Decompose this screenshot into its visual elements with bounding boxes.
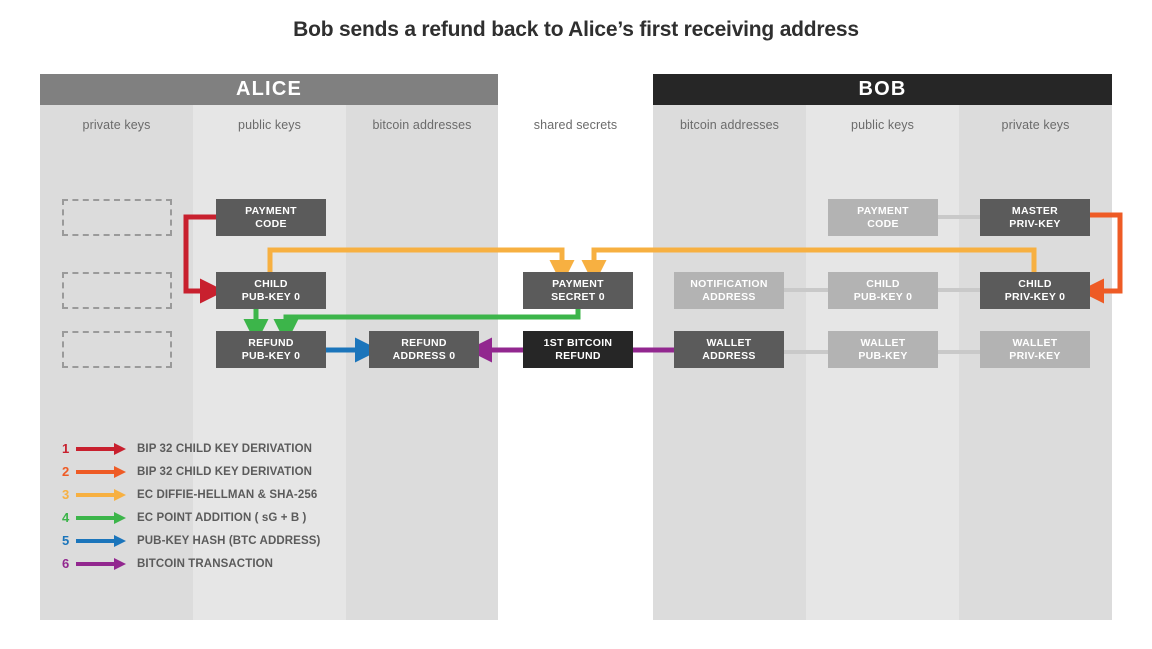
column-caption-alice-private-keys: private keys xyxy=(40,118,193,138)
node-line-2: ADDRESS xyxy=(702,350,755,363)
legend-number-2: 2 xyxy=(62,464,76,479)
node-line-1: WALLET xyxy=(1013,337,1058,350)
legend-row-4: 4 EC POINT ADDITION ( sG + B ) xyxy=(62,506,320,529)
party-label-alice: ALICE xyxy=(236,78,302,101)
node-1st-bitcoin-refund[interactable]: 1ST BITCOIN REFUND xyxy=(523,331,633,368)
legend-label-5: PUB-KEY HASH (BTC ADDRESS) xyxy=(137,535,320,547)
legend-number-3: 3 xyxy=(62,487,76,502)
legend-number-4: 4 xyxy=(62,510,76,525)
diagram-canvas: Bob sends a refund back to Alice’s first… xyxy=(0,0,1152,649)
legend-label-2: BIP 32 CHILD KEY DERIVATION xyxy=(137,466,312,478)
legend-arrow-icon-1 xyxy=(76,442,128,456)
column-caption-bob-public-keys: public keys xyxy=(806,118,959,138)
node-line-1: CHILD xyxy=(1018,278,1052,291)
node-line-1: 1ST BITCOIN xyxy=(544,337,613,350)
node-bob-payment-code[interactable]: PAYMENT CODE xyxy=(828,199,938,236)
node-payment-secret-0[interactable]: PAYMENT SECRET 0 xyxy=(523,272,633,309)
legend-label-3: EC DIFFIE-HELLMAN & SHA-256 xyxy=(137,489,317,501)
legend-arrow-icon-3 xyxy=(76,488,128,502)
legend-arrow-icon-5 xyxy=(76,534,128,548)
node-line-2: PRIV-KEY xyxy=(1009,350,1060,363)
link-bob-child-pubkey-child-privkey xyxy=(936,288,982,292)
legend-row-1: 1 BIP 32 CHILD KEY DERIVATION xyxy=(62,437,320,460)
node-alice-ghost-2 xyxy=(62,272,172,309)
node-alice-ghost-1 xyxy=(62,199,172,236)
legend-arrow-icon-2 xyxy=(76,465,128,479)
node-bob-wallet-address[interactable]: WALLET ADDRESS xyxy=(674,331,784,368)
legend: 1 BIP 32 CHILD KEY DERIVATION 2 BIP 32 C… xyxy=(62,437,320,575)
node-line-1: PAYMENT xyxy=(552,278,604,291)
link-bob-wallet-pubkey-wallet-privkey xyxy=(936,350,982,354)
node-bob-wallet-priv-key[interactable]: WALLET PRIV-KEY xyxy=(980,331,1090,368)
legend-row-6: 6 BITCOIN TRANSACTION xyxy=(62,552,320,575)
column-caption-alice-bitcoin-addresses: bitcoin addresses xyxy=(346,118,498,138)
node-line-2: PUB-KEY 0 xyxy=(242,291,301,304)
node-alice-refund-address-0[interactable]: REFUND ADDRESS 0 xyxy=(369,331,479,368)
legend-label-4: EC POINT ADDITION ( sG + B ) xyxy=(137,512,306,524)
node-bob-child-pub-key-0[interactable]: CHILD PUB-KEY 0 xyxy=(828,272,938,309)
node-line-1: CHILD xyxy=(866,278,900,291)
node-bob-wallet-pub-key[interactable]: WALLET PUB-KEY xyxy=(828,331,938,368)
legend-row-3: 3 EC DIFFIE-HELLMAN & SHA-256 xyxy=(62,483,320,506)
legend-label-6: BITCOIN TRANSACTION xyxy=(137,558,273,570)
node-bob-notification-address[interactable]: NOTIFICATION ADDRESS xyxy=(674,272,784,309)
node-line-2: ADDRESS xyxy=(702,291,755,304)
node-line-1: PAYMENT xyxy=(245,205,297,218)
link-bob-notification-child-pubkey xyxy=(782,288,829,292)
node-line-2: PUB-KEY 0 xyxy=(854,291,913,304)
node-line-2: CODE xyxy=(255,218,287,231)
node-alice-ghost-3 xyxy=(62,331,172,368)
column-caption-bob-bitcoin-addresses: bitcoin addresses xyxy=(653,118,806,138)
node-line-1: REFUND xyxy=(401,337,447,350)
node-line-2: PRIV-KEY xyxy=(1009,218,1060,231)
node-alice-payment-code[interactable]: PAYMENT CODE xyxy=(216,199,326,236)
node-bob-child-priv-key-0[interactable]: CHILD PRIV-KEY 0 xyxy=(980,272,1090,309)
legend-number-1: 1 xyxy=(62,441,76,456)
node-line-1: WALLET xyxy=(707,337,752,350)
party-label-bob: BOB xyxy=(858,78,906,101)
node-line-1: WALLET xyxy=(861,337,906,350)
party-header-alice: ALICE xyxy=(40,74,498,105)
node-line-2: SECRET 0 xyxy=(551,291,605,304)
node-line-2: PRIV-KEY 0 xyxy=(1005,291,1066,304)
legend-label-1: BIP 32 CHILD KEY DERIVATION xyxy=(137,443,312,455)
page-title: Bob sends a refund back to Alice’s first… xyxy=(0,18,1152,42)
link-bob-wallet-address-wallet-pubkey xyxy=(782,350,829,354)
node-alice-child-pub-key-0[interactable]: CHILD PUB-KEY 0 xyxy=(216,272,326,309)
column-caption-alice-public-keys: public keys xyxy=(193,118,346,138)
legend-number-5: 5 xyxy=(62,533,76,548)
node-line-2: PUB-KEY xyxy=(858,350,907,363)
node-alice-refund-pub-key-0[interactable]: REFUND PUB-KEY 0 xyxy=(216,331,326,368)
node-line-1: MASTER xyxy=(1012,205,1058,218)
legend-row-5: 5 PUB-KEY HASH (BTC ADDRESS) xyxy=(62,529,320,552)
link-bob-payment-code-master-privkey xyxy=(936,215,982,219)
node-line-2: CODE xyxy=(867,218,899,231)
node-line-1: REFUND xyxy=(248,337,294,350)
node-line-1: PAYMENT xyxy=(857,205,909,218)
legend-arrow-icon-6 xyxy=(76,557,128,571)
node-line-2: PUB-KEY 0 xyxy=(242,350,301,363)
legend-number-6: 6 xyxy=(62,556,76,571)
node-line-1: CHILD xyxy=(254,278,288,291)
node-line-2: REFUND xyxy=(555,350,601,363)
legend-arrow-icon-4 xyxy=(76,511,128,525)
legend-row-2: 2 BIP 32 CHILD KEY DERIVATION xyxy=(62,460,320,483)
column-caption-bob-private-keys: private keys xyxy=(959,118,1112,138)
node-bob-master-priv-key[interactable]: MASTER PRIV-KEY xyxy=(980,199,1090,236)
party-header-bob: BOB xyxy=(653,74,1112,105)
column-caption-shared-secrets: shared secrets xyxy=(498,118,653,138)
node-line-2: ADDRESS 0 xyxy=(393,350,456,363)
node-line-1: NOTIFICATION xyxy=(690,278,767,291)
